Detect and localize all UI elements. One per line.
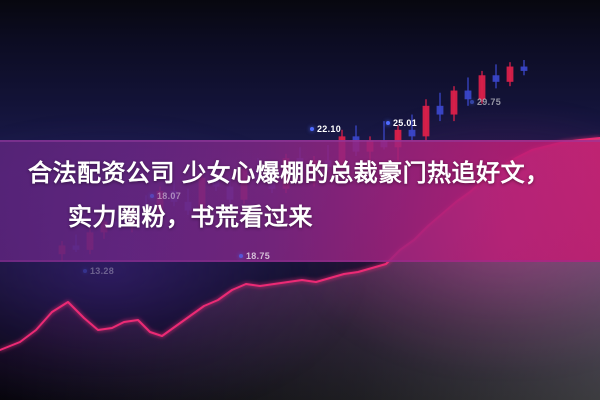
- price-label-29-75: 29.75: [470, 97, 501, 107]
- price-marker-dot: [310, 127, 314, 131]
- price-marker-dot: [83, 269, 87, 273]
- price-label-18-75: 18.75: [239, 251, 270, 261]
- headline-line-2: 实力圈粉，书荒看过来: [16, 196, 584, 240]
- price-label-25-01: 25.01: [386, 118, 417, 128]
- band-bottom-edge: [0, 260, 600, 262]
- band-top-edge: [0, 140, 600, 142]
- headline: 合法配资公司 少女心爆棚的总裁豪门热追好文， 实力圈粉，书荒看过来: [0, 152, 600, 240]
- price-marker-dot: [386, 121, 390, 125]
- price-label-text: 22.10: [317, 124, 341, 134]
- price-label-text: 13.28: [90, 266, 114, 276]
- price-marker-dot: [470, 100, 474, 104]
- price-label-13-28: 13.28: [83, 266, 114, 276]
- price-label-text: 18.75: [246, 251, 270, 261]
- headline-line-1: 合法配资公司 少女心爆棚的总裁豪门热追好文，: [16, 152, 584, 196]
- price-marker-dot: [239, 254, 243, 258]
- price-label-22-10: 22.10: [310, 124, 341, 134]
- price-label-text: 25.01: [393, 118, 417, 128]
- promo-banner-image: 13.28 18.07 18.75 22.10 25.01 29.75 合法配资…: [0, 0, 600, 400]
- price-label-text: 29.75: [477, 97, 501, 107]
